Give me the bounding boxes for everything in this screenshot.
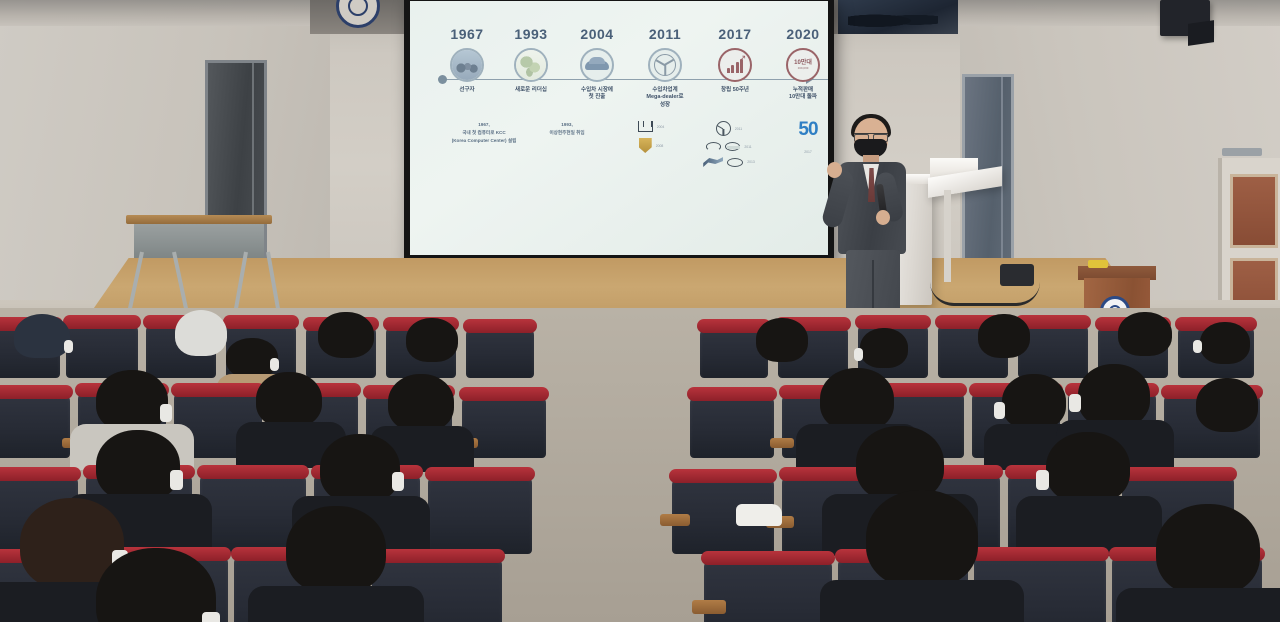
person-shoulders	[820, 580, 1024, 622]
vintage-photo-icon	[450, 48, 484, 82]
brand-year: 2011	[744, 145, 751, 149]
seat[interactable]	[690, 396, 774, 458]
exit-door-panel	[1230, 174, 1278, 248]
brand-year: 2011	[735, 127, 742, 131]
honda-logo-icon	[638, 121, 653, 132]
face-mask-icon	[64, 340, 73, 353]
presenter	[826, 118, 918, 330]
lexus-logo-icon	[727, 158, 743, 167]
person-head	[1078, 364, 1150, 428]
mercedes-star-icon	[648, 48, 682, 82]
person-head	[406, 318, 458, 362]
seat[interactable]	[0, 394, 70, 458]
detail-1993: 1993, 이상현주현일 취임	[528, 121, 606, 137]
milestone-year: 2017	[696, 27, 774, 41]
person-shoulders	[1116, 588, 1280, 622]
face-mask-icon	[994, 402, 1005, 419]
detail-text: 1993, 이상현주현일 취임	[528, 121, 606, 137]
milestone-2020: 2020 10만대 100,000 누적판매 10만대 돌파	[764, 27, 828, 102]
armrest	[692, 600, 726, 614]
brand-year: 2008	[656, 144, 664, 148]
lecture-hall-scene: 1967 선구자 1993 새로운 리더십 2004 수입차 시장에 첫 진출 …	[0, 0, 1280, 622]
person-shoulders	[248, 586, 424, 622]
presenter-trousers	[846, 250, 900, 316]
face-mask-icon	[202, 612, 220, 622]
sales-badge-sub: 100,000	[794, 67, 812, 70]
milestone-2004: 2004 수입차 시장에 첫 진출	[558, 27, 636, 102]
vehicle-image-display	[838, 0, 958, 34]
porsche-logo-icon	[639, 138, 652, 153]
slide-detail-row: 1967, 국내 첫 컴퓨터로 KCC (Korea Computer Cent…	[428, 121, 812, 221]
person-head	[320, 434, 400, 504]
person-head	[14, 314, 70, 358]
anniversary-number: 50	[780, 121, 828, 138]
face-mask-icon	[160, 404, 172, 422]
person-head	[756, 318, 808, 362]
person-head	[1200, 322, 1250, 364]
person-head	[866, 490, 978, 588]
milestone-2011: 2011 수입차업계 Mega-dealer로 성장	[626, 27, 704, 109]
audience-shoe	[736, 504, 782, 526]
growth-chart-icon	[718, 48, 752, 82]
jaguar-logo-icon	[703, 157, 723, 167]
face-mask-icon	[392, 472, 404, 491]
person-head	[1118, 312, 1172, 356]
person-head	[978, 314, 1030, 358]
face-mask-icon	[1193, 340, 1202, 353]
seat[interactable]	[462, 396, 546, 458]
projection-screen: 1967 선구자 1993 새로운 리더십 2004 수입차 시장에 첫 진출 …	[404, 0, 834, 262]
person-head	[1046, 432, 1130, 504]
milestone-caption: 창립 50주년	[696, 87, 774, 94]
seat[interactable]	[428, 476, 532, 554]
floor-equipment-box	[1000, 264, 1034, 286]
face-mask-icon	[1036, 470, 1049, 490]
nissan-logo-icon	[725, 142, 740, 151]
seat[interactable]	[466, 328, 534, 378]
face-mask-icon	[170, 470, 183, 490]
car-icon	[580, 48, 614, 82]
person-head	[286, 506, 386, 594]
presenter-left-hand	[827, 162, 842, 178]
lectern-post	[944, 190, 951, 282]
milestone-caption: 수입차 시장에 첫 진출	[558, 87, 636, 102]
person-head	[318, 312, 374, 358]
milestone-caption: 누적판매 10만대 돌파	[764, 87, 828, 102]
brand-group-2011: 2011 2011 2013	[684, 121, 774, 167]
milestone-year: 2011	[626, 27, 704, 41]
milestone-caption: 수입차업계 Mega-dealer로 성장	[626, 87, 704, 109]
milestone-year: 2004	[558, 27, 636, 41]
brand-group-2004: 2004 2008	[616, 121, 686, 153]
armrest	[660, 514, 690, 526]
face-mask-icon	[854, 348, 863, 361]
sales-badge-icon: 10만대 100,000	[786, 48, 820, 82]
folding-table-top	[126, 215, 272, 224]
face-mask-icon	[270, 358, 279, 371]
person-head	[860, 328, 908, 368]
face-mask-icon	[1069, 394, 1081, 412]
person-head	[226, 338, 278, 378]
person-head	[1196, 378, 1258, 432]
door-closer-icon	[1222, 148, 1262, 156]
person-head	[820, 368, 894, 432]
person-head-covering	[175, 310, 227, 356]
lectern-device	[1088, 260, 1108, 268]
milestone-2017: 2017 창립 50주년	[696, 27, 774, 94]
speaker-bracket	[1188, 20, 1214, 46]
person-head	[96, 430, 180, 502]
projected-slide: 1967 선구자 1993 새로운 리더십 2004 수입차 시장에 첫 진출 …	[410, 1, 828, 255]
mercedes-logo-icon	[716, 121, 731, 136]
person-head	[1156, 504, 1260, 596]
brand-year: 2004	[657, 125, 665, 129]
person-head	[96, 370, 168, 432]
person-head	[256, 372, 322, 428]
person-head	[1002, 374, 1066, 430]
timeline-graphic: 1967 선구자 1993 새로운 리더십 2004 수입차 시장에 첫 진출 …	[428, 27, 812, 119]
globe-icon	[514, 48, 548, 82]
person-head	[388, 374, 454, 432]
brand-year: 2013	[747, 160, 755, 164]
infiniti-logo-icon	[706, 142, 721, 151]
armrest	[770, 438, 794, 448]
audience-seating: LOGO	[0, 308, 1280, 622]
milestone-year: 2020	[764, 27, 828, 41]
anniversary-year: 2017	[780, 150, 828, 154]
detail-text: 1967, 국내 첫 컴퓨터로 KCC (Korea Computer Cent…	[436, 121, 532, 144]
detail-1967: 1967, 국내 첫 컴퓨터로 KCC (Korea Computer Cent…	[436, 121, 532, 144]
anniversary-mark: 50 2017	[780, 121, 828, 154]
presenter-right-hand	[876, 210, 890, 225]
